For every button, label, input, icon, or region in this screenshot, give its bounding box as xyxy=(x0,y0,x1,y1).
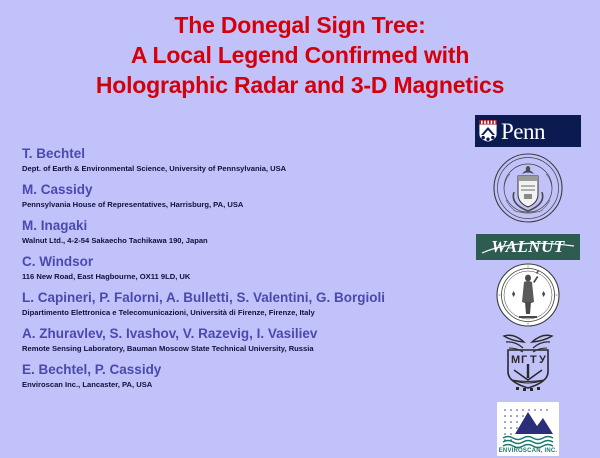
author-affiliation: Remote Sensing Laboratory, Bauman Moscow… xyxy=(22,343,452,354)
walnut-wordmark: WALNUT xyxy=(491,237,565,257)
logo-walnut: WALNUT xyxy=(462,232,594,262)
author-names: A. Zhuravlev, S. Ivashov, V. Razevig, I.… xyxy=(22,326,452,342)
university-of-florence-seal-icon xyxy=(495,262,561,333)
penn-wordmark: Penn xyxy=(501,120,545,143)
slide-title: The Donegal Sign Tree: A Local Legend Co… xyxy=(0,10,600,100)
presentation-slide: The Donegal Sign Tree: A Local Legend Co… xyxy=(0,0,600,450)
author-block: A. Zhuravlev, S. Ivashov, V. Razevig, I.… xyxy=(22,326,452,354)
svg-text:У: У xyxy=(539,354,546,366)
author-block: E. Bechtel, P. Cassidy Enviroscan Inc., … xyxy=(22,362,452,390)
penn-shield-icon xyxy=(478,119,498,143)
author-block: L. Capineri, P. Falorni, A. Bulletti, S.… xyxy=(22,290,452,318)
enviroscan-logo-box: ENVIROSCAN, INC. xyxy=(497,402,559,456)
author-names: L. Capineri, P. Falorni, A. Bulletti, S.… xyxy=(22,290,452,306)
author-block: M. Inagaki Walnut Ltd., 4-2-54 Sakaecho … xyxy=(22,218,452,246)
logo-enviroscan: ENVIROSCAN, INC. xyxy=(462,400,594,458)
author-block: C. Windsor 116 New Road, East Hagbourne,… xyxy=(22,254,452,282)
walnut-logo-box: WALNUT xyxy=(476,234,580,260)
logo-penn: Penn xyxy=(462,112,594,150)
author-affiliation: Dept. of Earth & Environmental Science, … xyxy=(22,163,452,174)
author-list: T. Bechtel Dept. of Earth & Environmenta… xyxy=(22,146,452,398)
author-affiliation: Enviroscan Inc., Lancaster, PA, USA xyxy=(22,379,452,390)
author-affiliation: Pennsylvania House of Representatives, H… xyxy=(22,199,452,210)
svg-text:М: М xyxy=(511,354,520,366)
title-line-1: The Donegal Sign Tree: xyxy=(0,10,600,40)
author-names: M. Cassidy xyxy=(22,182,452,198)
pennsylvania-house-of-representatives-seal-icon xyxy=(492,152,564,229)
author-names: T. Bechtel xyxy=(22,146,452,162)
author-names: M. Inagaki xyxy=(22,218,452,234)
author-names: C. Windsor xyxy=(22,254,452,270)
enviroscan-wordmark: ENVIROSCAN, INC. xyxy=(497,448,559,454)
author-names: E. Bechtel, P. Cassidy xyxy=(22,362,452,378)
title-line-2: A Local Legend Confirmed with xyxy=(0,40,600,70)
author-affiliation: Walnut Ltd., 4-2-54 Sakaecho Tachikawa 1… xyxy=(22,235,452,246)
logo-florence-seal xyxy=(462,264,594,330)
svg-text:Т: Т xyxy=(530,354,537,366)
bauman-mgtu-emblem-icon: М Г Т У xyxy=(494,330,562,397)
penn-logo-box: Penn xyxy=(475,115,581,147)
author-block: M. Cassidy Pennsylvania House of Represe… xyxy=(22,182,452,210)
logo-pa-house-seal xyxy=(462,154,594,226)
title-line-3: Holographic Radar and 3-D Magnetics xyxy=(0,70,600,100)
author-block: T. Bechtel Dept. of Earth & Environmenta… xyxy=(22,146,452,174)
author-affiliation: 116 New Road, East Hagbourne, OX11 9LD, … xyxy=(22,271,452,282)
logo-bauman-mgtu: М Г Т У xyxy=(462,332,594,394)
author-affiliation: Dipartimento Elettronica e Telecomunicaz… xyxy=(22,307,452,318)
institution-logo-column: Penn xyxy=(462,112,594,458)
